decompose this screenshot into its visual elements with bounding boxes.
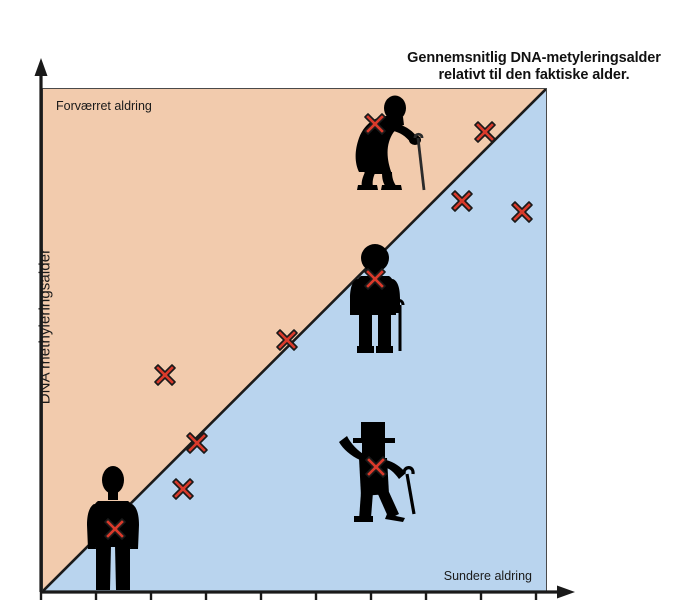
y-axis-title: DNA methyleringsalder: [37, 197, 54, 457]
data-point-marker[interactable]: [509, 199, 535, 225]
data-point-marker[interactable]: [449, 188, 475, 214]
data-point-marker[interactable]: [184, 430, 210, 456]
data-point-marker[interactable]: [363, 454, 389, 480]
data-point-marker[interactable]: [170, 476, 196, 502]
chart-canvas: Forværret aldring Sundere aldring: [0, 0, 700, 600]
data-point-marker[interactable]: [152, 362, 178, 388]
data-point-marker[interactable]: [472, 119, 498, 145]
data-point-marker[interactable]: [102, 516, 128, 542]
chart-title: Gennemsnitlig DNA-metyleringsalder relat…: [384, 50, 684, 84]
data-point-marker[interactable]: [274, 327, 300, 353]
data-point-marker[interactable]: [362, 111, 388, 137]
data-point-marker[interactable]: [362, 266, 388, 292]
data-point-markers: [0, 0, 700, 600]
